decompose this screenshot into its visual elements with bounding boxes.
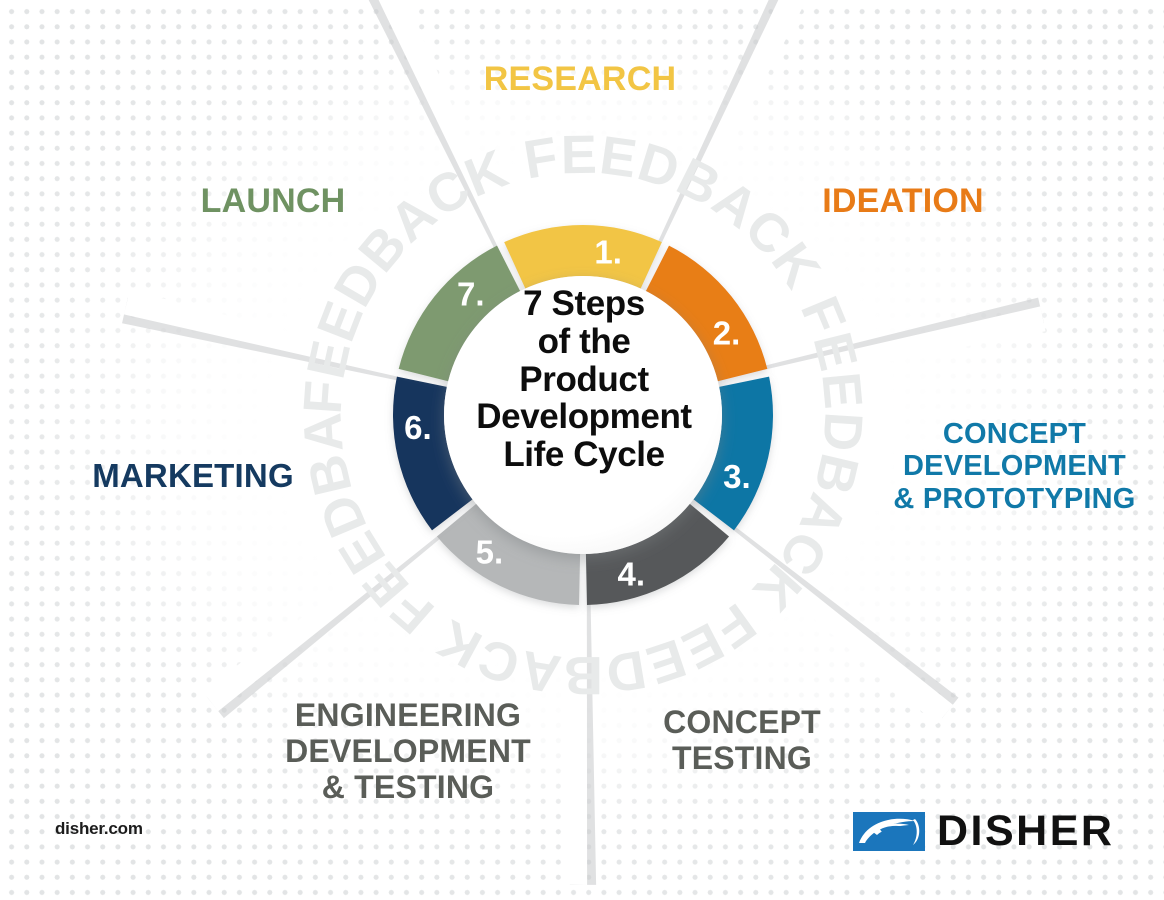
segment-number-1: 1. [594, 233, 622, 270]
center-heading: 7 Steps of the Product Development Life … [443, 285, 725, 474]
category-label-marketing: MARKETING [58, 458, 328, 495]
infographic-canvas: FEEDBACK FEEDBACK FEEDBACK FEEDBACK FEED… [0, 0, 1164, 900]
segment-number-3: 3. [723, 458, 751, 495]
disher-swoosh-icon [853, 812, 925, 851]
category-label-ideation: IDEATION [768, 182, 1038, 220]
website-text: disher.com [55, 819, 143, 839]
segment-number-5: 5. [476, 533, 504, 570]
disher-wordmark: DISHER [937, 810, 1114, 853]
segment-number-6: 6. [404, 409, 432, 446]
category-label-research: RESEARCH [430, 60, 730, 98]
disher-logo: DISHER [853, 810, 1114, 853]
category-label-concept-testing: CONCEPT TESTING [622, 705, 862, 777]
category-label-concept-development: CONCEPT DEVELOPMENT & PROTOTYPING [872, 418, 1157, 515]
category-label-launch: LAUNCH [168, 182, 378, 220]
category-label-engineering-development: ENGINEERING DEVELOPMENT & TESTING [248, 698, 568, 805]
segment-number-4: 4. [618, 555, 646, 592]
